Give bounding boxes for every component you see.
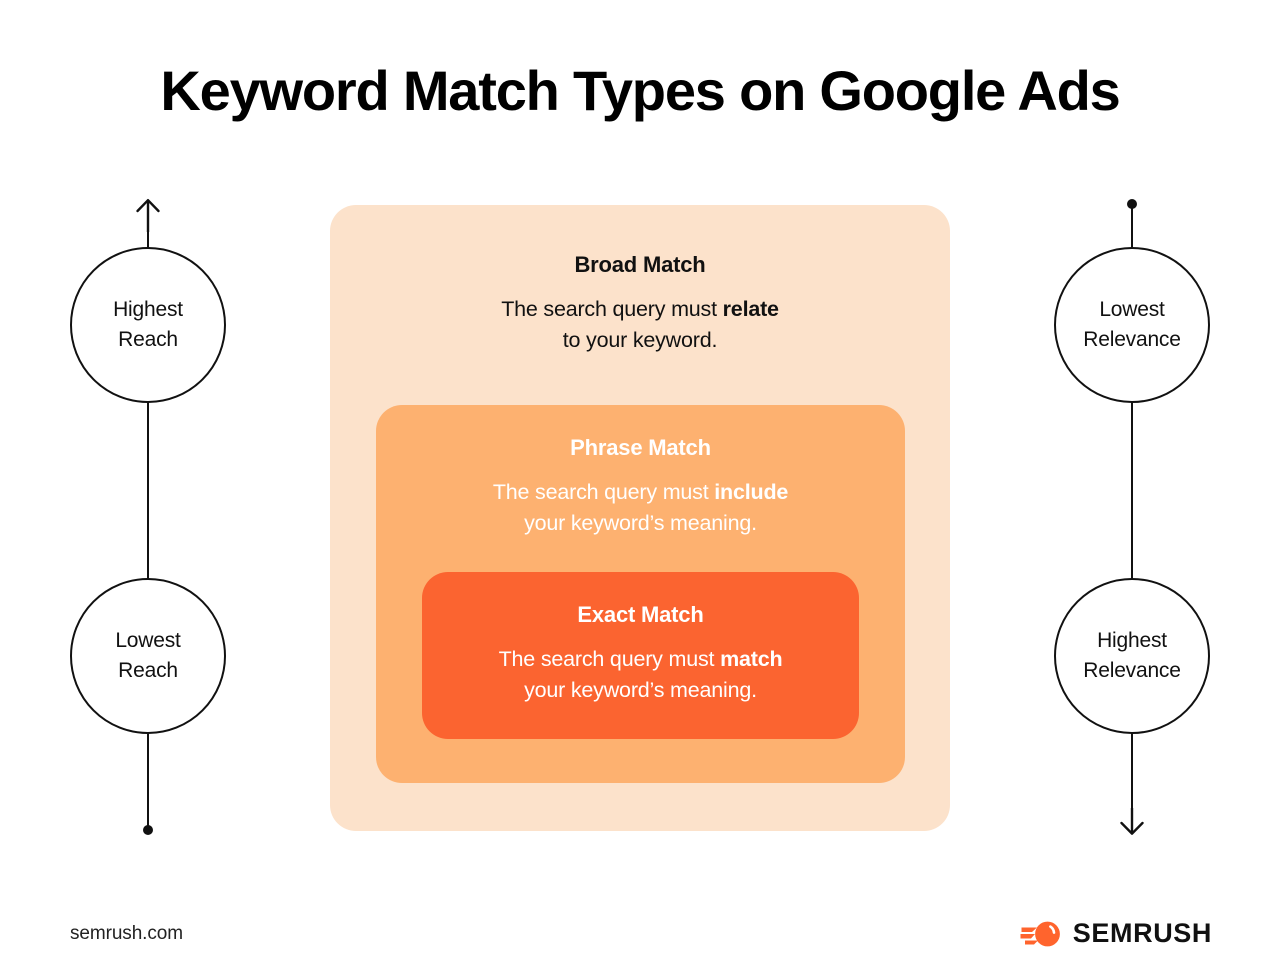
broad-match-box: Broad Match The search query must relate… — [330, 205, 950, 831]
semrush-comet-icon — [1020, 919, 1062, 949]
phrase-match-box: Phrase Match The search query must inclu… — [376, 405, 905, 783]
left-bottom-circle-line2: Reach — [115, 656, 180, 686]
right-top-circle-line2: Relevance — [1083, 325, 1180, 355]
phrase-match-description: The search query must include your keywo… — [376, 477, 905, 539]
broad-match-text-block: Broad Match The search query must relate… — [330, 252, 950, 356]
infographic-canvas: Keyword Match Types on Google Ads Highes… — [0, 0, 1280, 970]
broad-match-description: The search query must relate to your key… — [330, 294, 950, 356]
phrase-match-text-block: Phrase Match The search query must inclu… — [376, 435, 905, 539]
semrush-wordmark: SEMRUSH — [1073, 918, 1212, 949]
arrow-up-icon — [132, 198, 164, 232]
exact-match-desc-line2: your keyword’s meaning. — [524, 678, 757, 702]
phrase-match-desc-line1-pre: The search query must — [493, 480, 714, 504]
left-top-circle: Highest Reach — [70, 247, 226, 403]
left-top-circle-line2: Reach — [113, 325, 183, 355]
right-bottom-circle: Highest Relevance — [1054, 578, 1210, 734]
axis-line-segment-bottom — [147, 730, 149, 830]
left-bottom-circle-line1: Lowest — [115, 626, 180, 656]
right-top-circle-line1: Lowest — [1083, 295, 1180, 325]
phrase-match-desc-line2: your keyword’s meaning. — [524, 511, 757, 535]
exact-match-desc-keyword: match — [720, 647, 782, 671]
broad-match-heading: Broad Match — [330, 252, 950, 278]
broad-match-desc-line1-pre: The search query must — [501, 297, 722, 321]
right-bottom-circle-line2: Relevance — [1083, 656, 1180, 686]
left-bottom-circle: Lowest Reach — [70, 578, 226, 734]
exact-match-text-block: Exact Match The search query must match … — [422, 602, 859, 706]
phrase-match-heading: Phrase Match — [376, 435, 905, 461]
exact-match-heading: Exact Match — [422, 602, 859, 628]
exact-match-description: The search query must match your keyword… — [422, 644, 859, 706]
phrase-match-desc-keyword: include — [714, 480, 788, 504]
left-top-circle-line1: Highest — [113, 295, 183, 325]
semrush-logo: SEMRUSH — [1020, 918, 1212, 949]
axis-dot-terminator-icon — [1127, 199, 1137, 209]
exact-match-box: Exact Match The search query must match … — [422, 572, 859, 739]
axis-dot-terminator-icon — [143, 825, 153, 835]
arrow-down-icon — [1116, 808, 1148, 836]
left-axis-rail: Highest Reach Lowest Reach — [0, 0, 300, 970]
exact-match-desc-line1-pre: The search query must — [499, 647, 720, 671]
axis-line-segment-middle — [1131, 400, 1133, 580]
broad-match-desc-keyword: relate — [723, 297, 779, 321]
right-bottom-circle-line1: Highest — [1083, 626, 1180, 656]
broad-match-desc-line2: to your keyword. — [563, 328, 718, 352]
axis-line-segment-middle — [147, 400, 149, 580]
right-axis-rail: Lowest Relevance Highest Relevance — [980, 0, 1280, 970]
footer-website-url: semrush.com — [70, 923, 183, 945]
right-top-circle: Lowest Relevance — [1054, 247, 1210, 403]
